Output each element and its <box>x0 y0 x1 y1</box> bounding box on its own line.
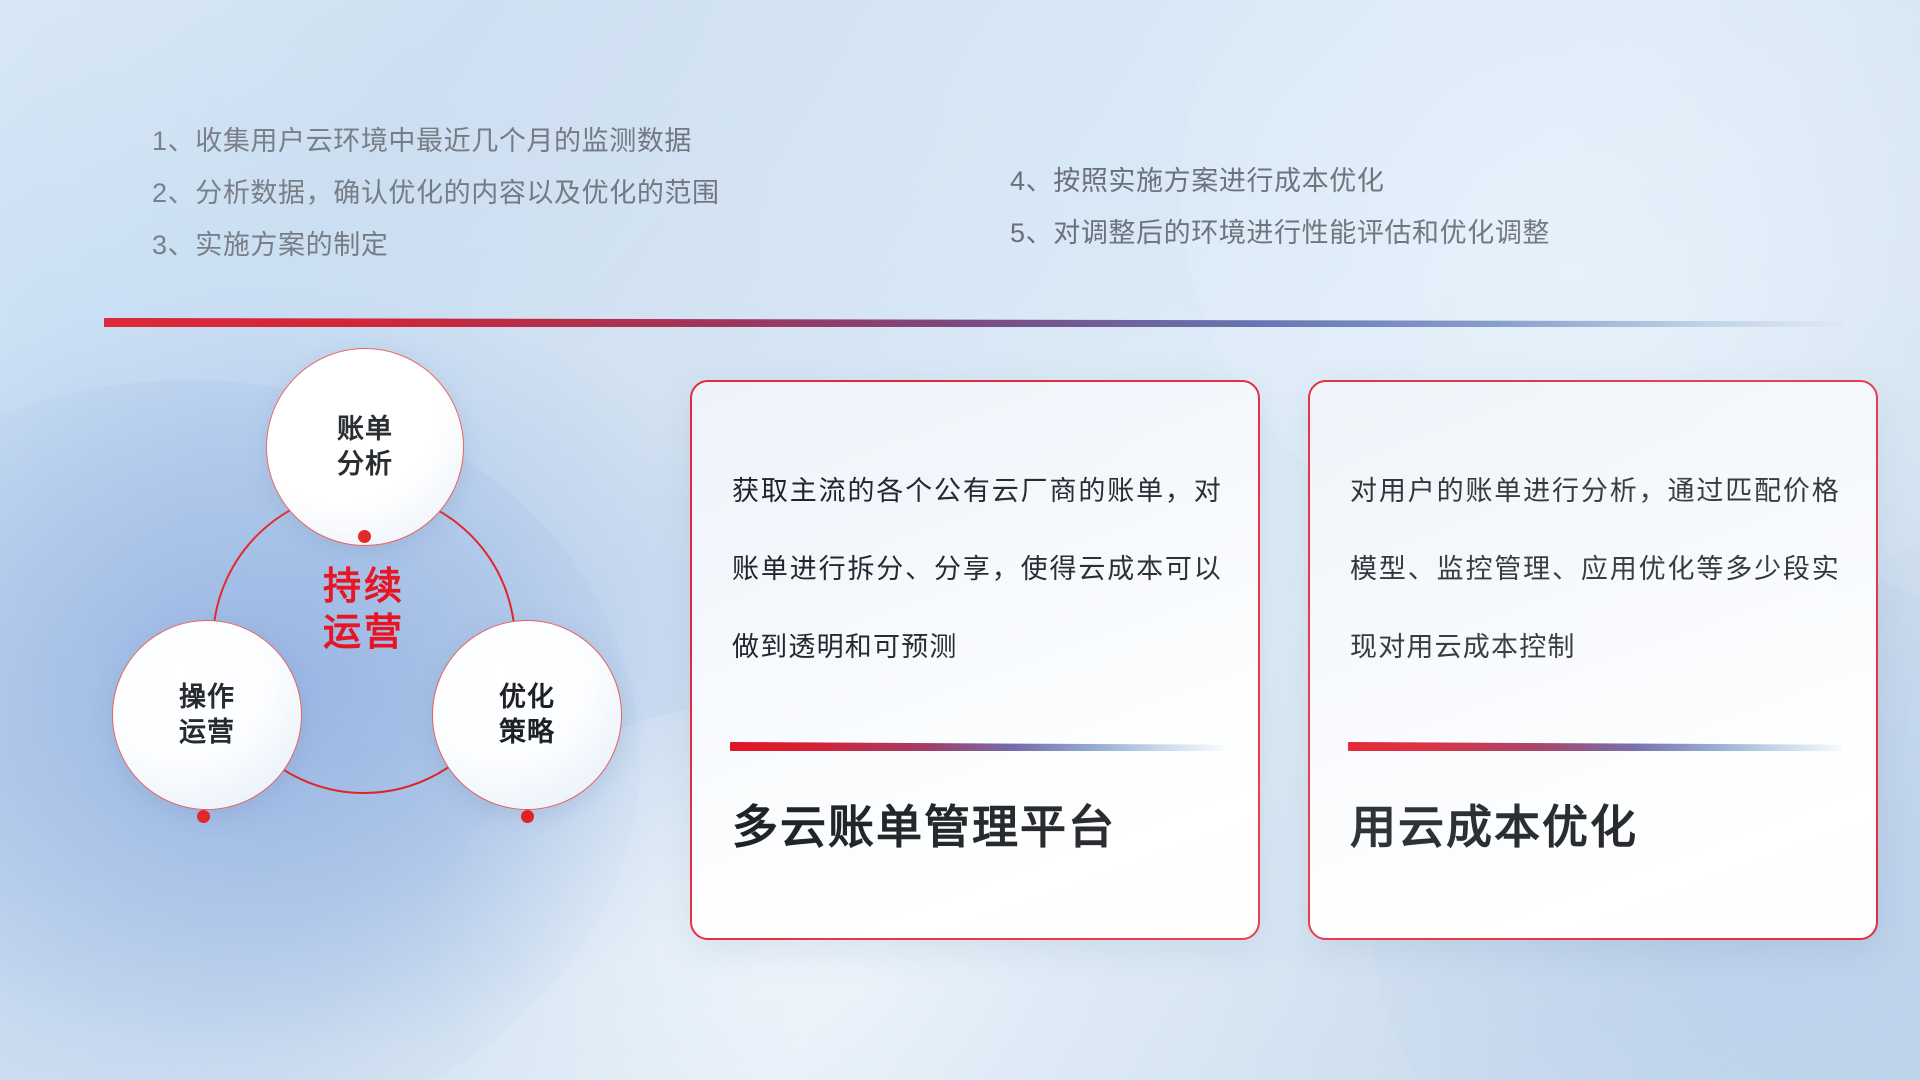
feature-card-2-body: 对用户的账单进行分析，通过匹配价格模型、监控管理、应用优化等多少段实现对用云成本… <box>1350 452 1840 686</box>
feature-card-multicloud-billing[interactable]: 获取主流的各个公有云厂商的账单，对账单进行拆分、分享，使得云成本可以做到透明和可… <box>690 380 1260 940</box>
venn-bubble-top-line2: 分析 <box>337 447 393 482</box>
venn-bubble-right-line2: 策略 <box>499 715 555 750</box>
section-divider <box>104 318 1844 327</box>
step-item-5: 5、对调整后的环境进行性能评估和优化调整 <box>1010 207 1550 259</box>
venn-center-label: 持续 运营 <box>264 564 464 657</box>
venn-bubble-left-line1: 操作 <box>179 680 235 715</box>
feature-card-cloud-cost-optimization[interactable]: 对用户的账单进行分析，通过匹配价格模型、监控管理、应用优化等多少段实现对用云成本… <box>1308 380 1878 940</box>
feature-card-1-divider <box>730 742 1224 751</box>
venn-diagram: 账单 分析 操作 运营 优化 策略 持续 运营 <box>96 352 656 952</box>
steps-list-left: 1、收集用户云环境中最近几个月的监测数据 2、分析数据，确认优化的内容以及优化的… <box>152 115 720 271</box>
venn-center-line2: 运营 <box>264 610 464 656</box>
venn-bubble-right-line1: 优化 <box>499 680 555 715</box>
feature-card-1-body: 获取主流的各个公有云厂商的账单，对账单进行拆分、分享，使得云成本可以做到透明和可… <box>732 452 1222 686</box>
step-item-4: 4、按照实施方案进行成本优化 <box>1010 155 1550 207</box>
venn-node-dot-top <box>358 530 371 543</box>
step-item-3: 3、实施方案的制定 <box>152 219 720 271</box>
venn-bubble-left-line2: 运营 <box>179 715 235 750</box>
section-divider-bar <box>104 318 1844 327</box>
step-item-1: 1、收集用户云环境中最近几个月的监测数据 <box>152 115 720 167</box>
venn-bubble-top-label: 账单 分析 <box>337 412 393 482</box>
steps-list-right: 4、按照实施方案进行成本优化 5、对调整后的环境进行性能评估和优化调整 <box>1010 155 1550 259</box>
feature-card-2-title: 用云成本优化 <box>1350 800 1840 855</box>
venn-bubble-right-label: 优化 策略 <box>499 680 555 750</box>
step-item-2: 2、分析数据，确认优化的内容以及优化的范围 <box>152 167 720 219</box>
venn-bubble-top-line1: 账单 <box>337 412 393 447</box>
venn-node-dot-right <box>521 810 534 823</box>
venn-center-line1: 持续 <box>264 564 464 610</box>
slide-canvas: 1、收集用户云环境中最近几个月的监测数据 2、分析数据，确认优化的内容以及优化的… <box>0 0 1920 1080</box>
feature-card-1-title: 多云账单管理平台 <box>732 800 1222 855</box>
venn-node-dot-left <box>197 810 210 823</box>
venn-bubble-billing-analysis[interactable]: 账单 分析 <box>266 348 464 546</box>
venn-bubble-left-label: 操作 运营 <box>179 680 235 750</box>
feature-card-2-divider <box>1348 742 1842 751</box>
